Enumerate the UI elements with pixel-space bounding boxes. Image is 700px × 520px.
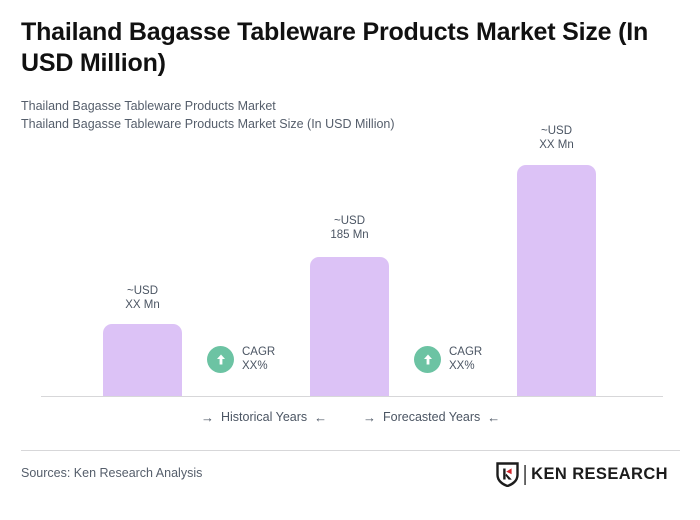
years-legend: → Historical Years ← → Forecasted Years … — [41, 410, 663, 430]
cagr-badge-1-line1: CAGR — [242, 345, 275, 359]
ken-research-logo: KEN RESEARCH — [496, 462, 668, 487]
bar-label-2: ~USD 185 Mn — [310, 214, 389, 242]
arrow-right-icon: → — [201, 411, 214, 424]
bar-label-1-line2: XX Mn — [103, 298, 182, 312]
ken-research-shield-icon — [496, 462, 519, 487]
footer-divider — [21, 450, 680, 451]
cagr-badge-1: CAGR XX% — [207, 345, 275, 373]
cagr-badge-2-line1: CAGR — [449, 345, 482, 359]
bar-label-2-line1: ~USD — [310, 214, 389, 228]
bar-label-3-line1: ~USD — [517, 124, 596, 138]
bar-label-1: ~USD XX Mn — [103, 284, 182, 312]
legend-historical-years: → Historical Years ← — [201, 410, 327, 424]
sources-text: Sources: Ken Research Analysis — [21, 466, 202, 480]
bar-label-3-line2: XX Mn — [517, 138, 596, 152]
cagr-badge-2: CAGR XX% — [414, 345, 482, 373]
arrow-up-icon — [207, 346, 234, 373]
chart-page: Thailand Bagasse Tableware Products Mark… — [0, 0, 700, 520]
arrow-right-icon: → — [363, 411, 376, 424]
cagr-badge-2-text: CAGR XX% — [449, 345, 482, 373]
bar-forecasted[interactable] — [517, 165, 596, 396]
cagr-badge-1-line2: XX% — [242, 359, 275, 373]
arrow-left-icon: ← — [487, 411, 500, 424]
plot-area: ~USD XX Mn CAGR XX% ~USD 185 Mn — [0, 0, 700, 400]
bar-label-2-line2: 185 Mn — [310, 228, 389, 242]
cagr-badge-1-text: CAGR XX% — [242, 345, 275, 373]
bar-interim[interactable] — [310, 257, 389, 396]
arrow-up-icon — [414, 346, 441, 373]
legend-forecasted-years-label: Forecasted Years — [383, 410, 480, 424]
bar-label-3: ~USD XX Mn — [517, 124, 596, 152]
arrow-left-icon: ← — [314, 411, 327, 424]
axis-baseline — [41, 396, 663, 397]
bar-label-1-line1: ~USD — [103, 284, 182, 298]
legend-historical-years-label: Historical Years — [221, 410, 307, 424]
logo-divider-icon — [523, 464, 527, 486]
legend-forecasted-years: → Forecasted Years ← — [363, 410, 500, 424]
logo-text: KEN RESEARCH — [531, 465, 668, 484]
cagr-badge-2-line2: XX% — [449, 359, 482, 373]
bar-historical[interactable] — [103, 324, 182, 396]
